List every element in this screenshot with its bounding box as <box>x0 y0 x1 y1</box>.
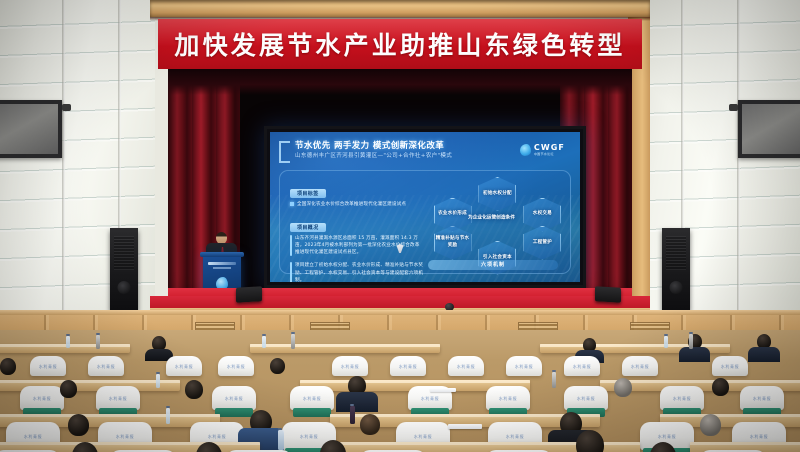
slide-tag-label-2: 项目概况 <box>290 223 326 232</box>
hex-label-5: 农业水价形成 <box>438 211 467 217</box>
seat-cover <box>740 386 784 410</box>
slide-hex-diagram: 初始水权分配 水权交易 工程管护 引入社会资本 精准补贴与节水奖励 农业水价形成… <box>419 175 564 269</box>
water-bottle <box>278 430 284 450</box>
hex-node-0: 初始水权分配 <box>478 177 516 211</box>
left-wall-monitor <box>0 100 62 158</box>
attendee-head <box>614 378 632 397</box>
audience-seating-area <box>0 330 800 452</box>
led-presentation-screen: 节水优先 两手发力 模式创新深化改革 山东德州丰广区齐河县引黄灌区—"公司+合作… <box>264 126 586 288</box>
water-bottle <box>66 336 70 348</box>
seat-cover <box>390 356 426 376</box>
slide-subtitle: 山东德州丰广区齐河县引黄灌区—"公司+合作社+农户"模式 <box>295 151 452 159</box>
podium-top-surface <box>200 252 244 257</box>
attendee-torso <box>679 347 710 362</box>
mechanism-bar: 六项机制 <box>428 260 559 270</box>
hex-label-1: 水权交易 <box>533 211 552 217</box>
seat-cover <box>212 386 256 410</box>
hex-node-2: 工程管护 <box>523 226 561 260</box>
left-pa-cone-icon <box>118 281 131 294</box>
seat-cover <box>564 356 600 376</box>
seat-cover <box>88 356 124 376</box>
curtain-header <box>168 69 632 95</box>
event-banner: 加快发展节水产业助推山东绿色转型 <box>158 19 642 69</box>
attendee-torso <box>748 347 780 362</box>
slide-bracket-icon <box>279 141 290 163</box>
bullet-bar-icon-2 <box>290 262 292 282</box>
conference-hall-photo: 加快发展节水产业助推山东绿色转型 节水优先 两手发力 模式创新深化改革 山东德州… <box>0 0 800 452</box>
water-bottle <box>262 336 266 348</box>
handout-paper <box>430 388 456 392</box>
water-bottle <box>156 374 160 388</box>
podium-title-text <box>208 262 236 265</box>
seat-cover <box>712 356 748 376</box>
right-pa-cone-icon <box>670 281 683 294</box>
slide-title: 节水优先 两手发力 模式创新深化改革 <box>295 139 444 151</box>
water-bottle <box>552 372 556 388</box>
water-bottle <box>166 408 170 424</box>
attendee-head <box>360 414 380 435</box>
desk-row1-a <box>0 344 130 353</box>
cwgf-logo-main: CWGF <box>534 144 565 152</box>
left-pa-speaker <box>110 228 138 310</box>
seat-cover <box>218 356 254 376</box>
hex-cluster: 初始水权分配 水权交易 工程管护 引入社会资本 精准补贴与节水奖励 农业水价形成… <box>419 175 564 269</box>
hex-label-4: 精准补贴与节水奖励 <box>434 236 472 248</box>
seat-cover <box>30 356 66 376</box>
mechanism-label: 六项机制 <box>481 261 505 268</box>
seat-cover <box>166 356 202 376</box>
cwgf-logo-text: CWGF 中国节水论坛 <box>534 144 565 156</box>
bullet-text-2: 山东齐河县灌溉水源区总面积 15 万亩，灌溉面积 14.3 万亩，2023年4月… <box>295 235 423 256</box>
right-monitor-mount <box>729 104 738 111</box>
wainscot-cap-rail <box>0 310 800 315</box>
slide-bullet: 全国深化农业水价综合改革推进现代化灌区建设试点 <box>290 201 423 208</box>
cwgf-logo-sub: 中国节水论坛 <box>534 153 565 156</box>
seat-cover <box>332 356 368 376</box>
seat-cover <box>564 386 608 410</box>
slide-surface: 节水优先 两手发力 模式创新深化改革 山东德州丰广区齐河县引黄灌区—"公司+合作… <box>270 132 580 282</box>
attendee-head <box>68 414 89 436</box>
water-bottle <box>689 334 693 349</box>
hex-label-2: 工程管护 <box>533 240 552 246</box>
seat-cover <box>96 386 140 410</box>
attendee-head <box>0 358 16 375</box>
handout-paper <box>448 424 482 429</box>
bullet-square-icon <box>290 202 294 206</box>
bullet-bar-icon <box>290 235 292 256</box>
attendee-head <box>185 380 203 399</box>
seat-cover <box>290 386 334 410</box>
water-bottle <box>96 335 100 349</box>
slide-header: 节水优先 两手发力 模式创新深化改革 山东德州丰广区齐河县引黄灌区—"公司+合作… <box>279 139 571 167</box>
water-bottle <box>664 336 668 348</box>
slide-left-column: 项目标签 全国深化农业水价综合改革推进现代化灌区建设试点 项目概况 山东齐河县灌… <box>290 180 423 282</box>
cwgf-flame-icon <box>520 144 531 156</box>
slide-content-card: 项目标签 全国深化农业水价综合改革推进现代化灌区建设试点 项目概况 山东齐河县灌… <box>279 170 571 274</box>
seat-cover <box>448 356 484 376</box>
attendee-torso <box>336 392 378 412</box>
slide-bullet-3: 项目建立了初始水权分配、农业水价形成、精准补贴与节水奖励、工程管护、水权交易、引… <box>290 262 423 282</box>
water-bottle <box>291 334 295 349</box>
seat-cover <box>506 356 542 376</box>
right-wall-monitor <box>738 100 800 158</box>
attendee-head <box>270 358 285 374</box>
hex-center-label: 为企业化运管创造条件 <box>468 216 515 223</box>
attendee-head <box>700 414 721 436</box>
seat-cover <box>486 386 530 410</box>
water-bottle <box>350 406 355 424</box>
right-pa-speaker <box>662 228 690 310</box>
podium-subtitle-text <box>213 267 231 269</box>
attendee-head <box>60 380 77 398</box>
attendee-head <box>576 430 604 452</box>
stage-monitor-left <box>236 286 262 302</box>
seat-cover <box>622 356 658 376</box>
hex-label-0: 初始水权分配 <box>483 191 512 197</box>
slide-tag-label: 项目标签 <box>290 189 326 198</box>
seat-cover <box>20 386 64 410</box>
hex-node-5: 农业水价形成 <box>434 198 472 232</box>
attendee-head <box>712 378 729 396</box>
cwgf-logo: CWGF 中国节水论坛 <box>520 144 565 156</box>
stage-monitor-right <box>595 286 621 302</box>
bullet-text-3: 项目建立了初始水权分配、农业水价形成、精准补贴与节水奖励、工程管护、水权交易、引… <box>295 262 423 282</box>
ceiling-valance <box>150 0 650 17</box>
left-monitor-mount <box>62 104 71 111</box>
seat-cover <box>660 386 704 410</box>
bullet-text: 全国深化农业水价综合改革推进现代化灌区建设试点 <box>297 201 406 208</box>
banner-title: 加快发展节水产业助推山东绿色转型 <box>174 26 625 62</box>
desk-row1-b <box>250 344 440 353</box>
